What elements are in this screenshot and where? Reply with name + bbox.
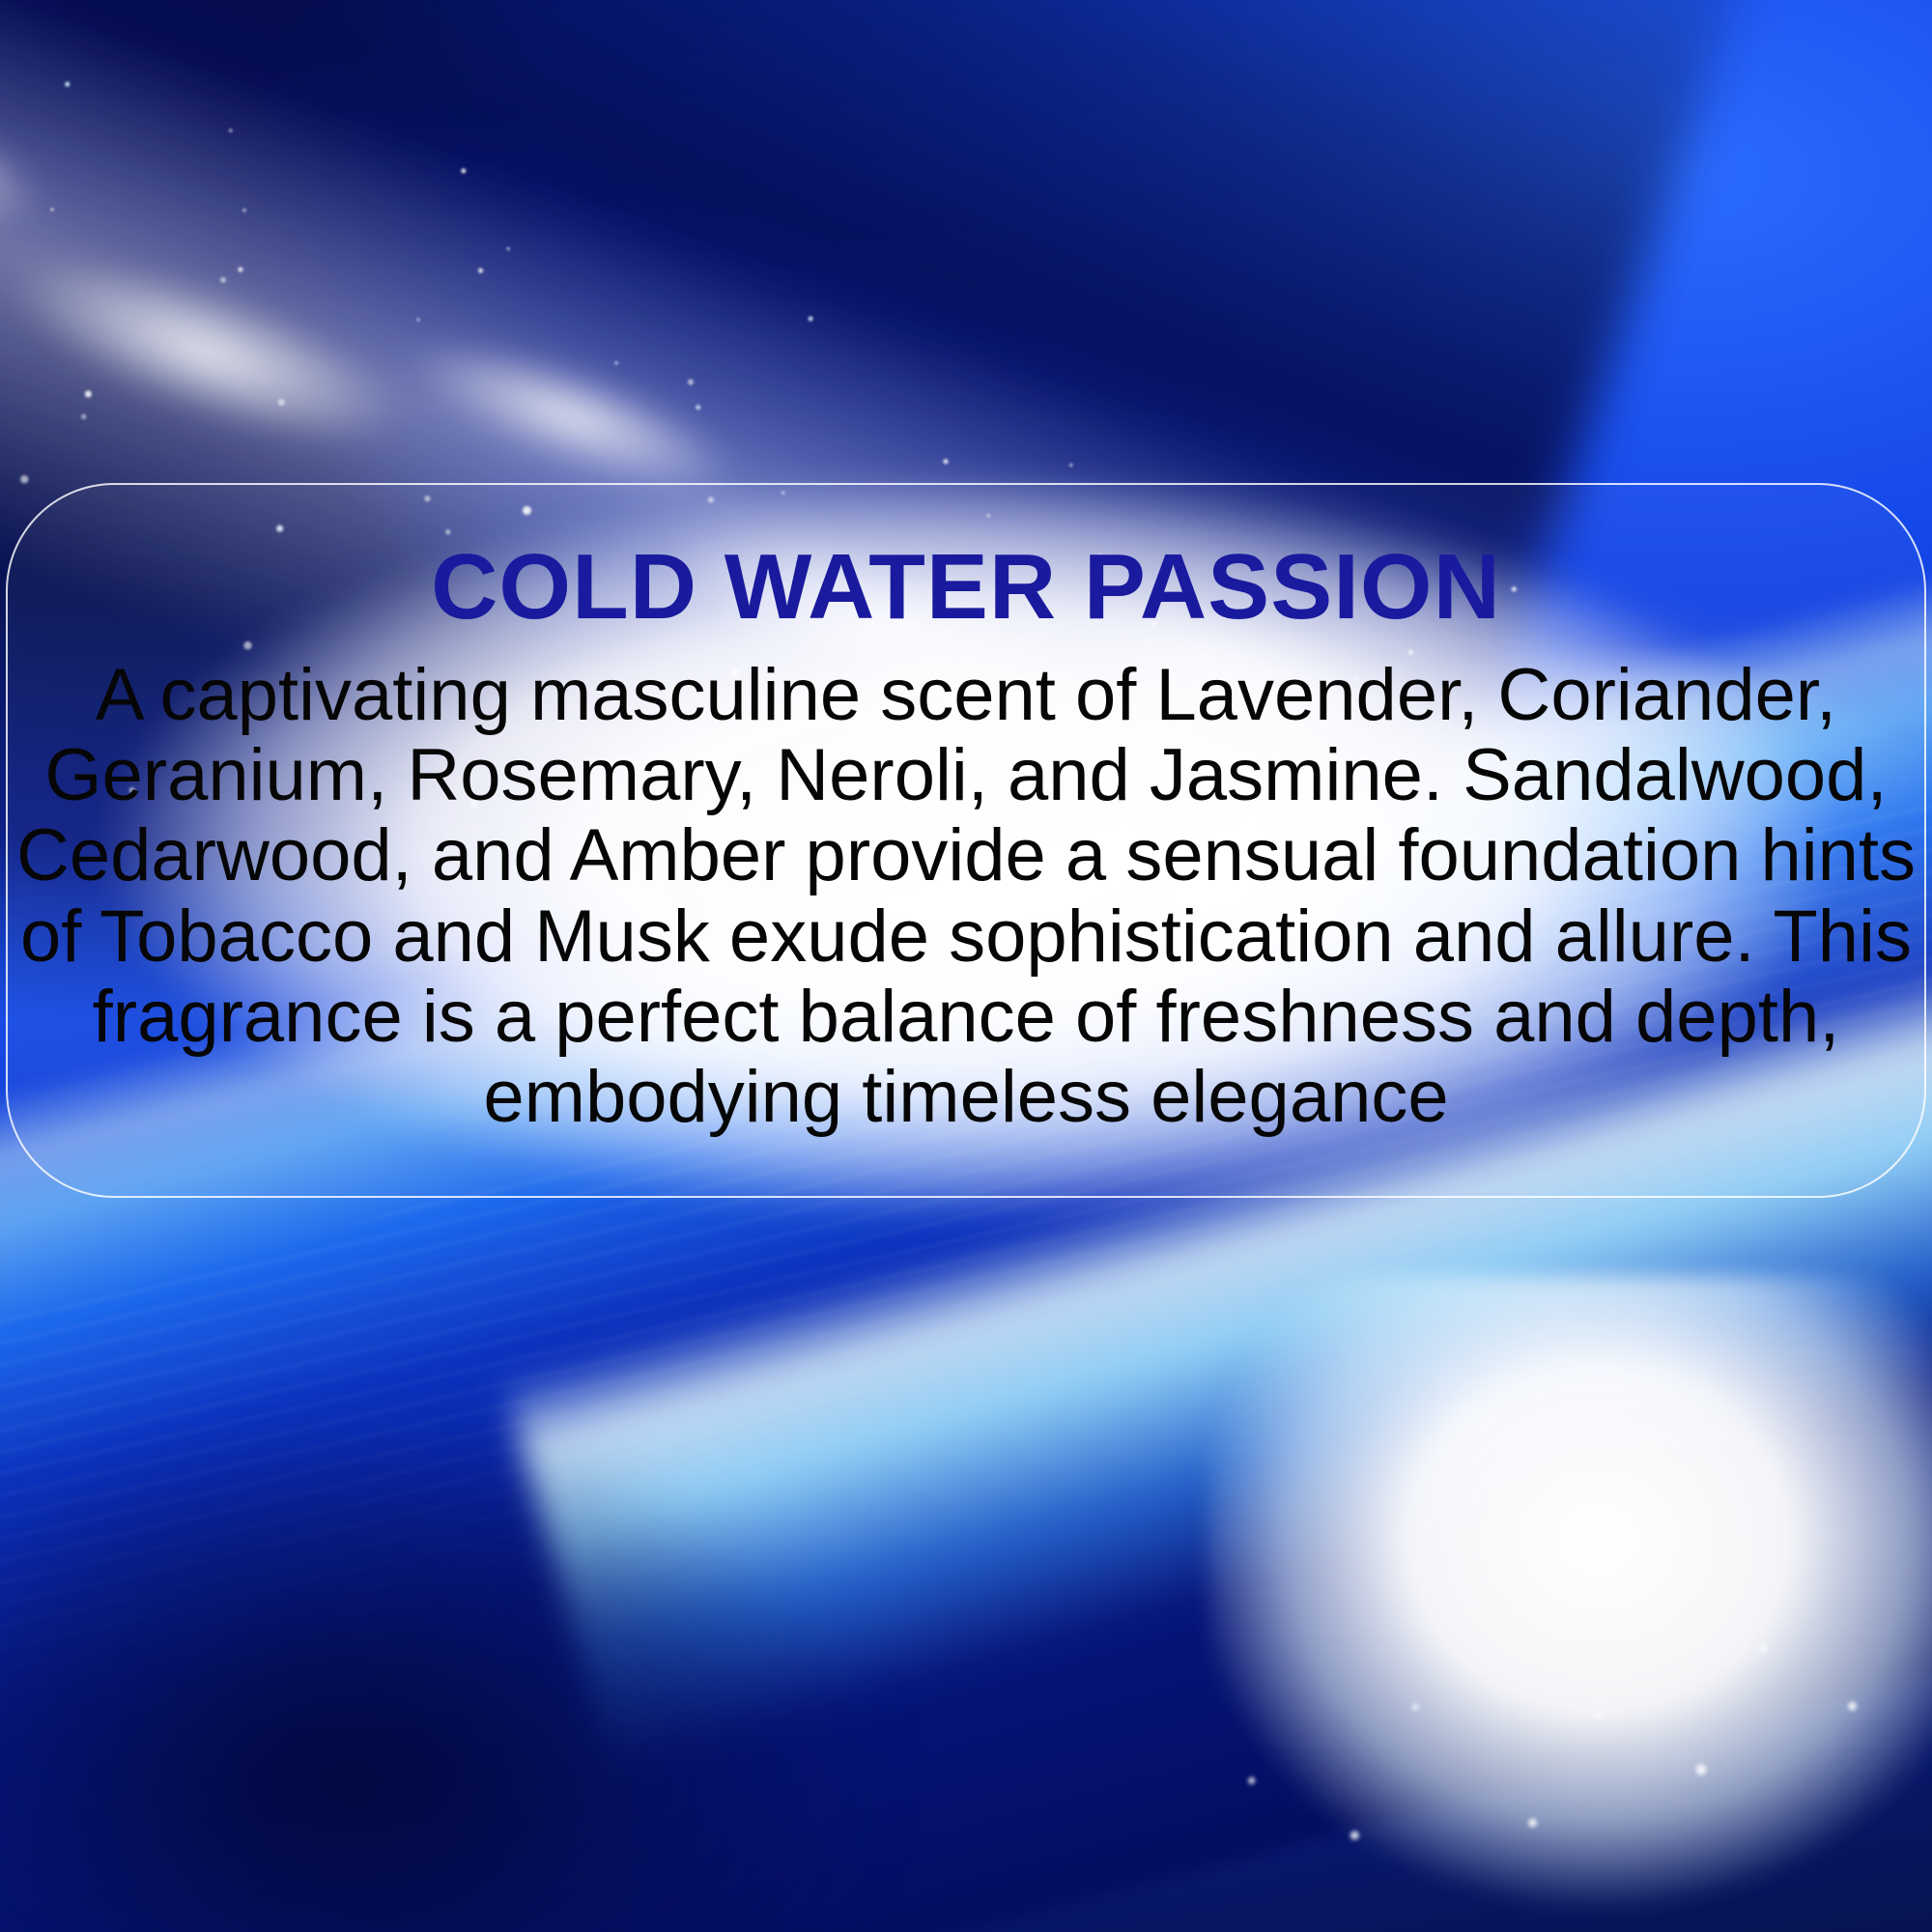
product-poster: COLD WATER PASSION A captivating masculi… <box>0 0 1932 1932</box>
page-title: COLD WATER PASSION <box>0 541 1932 634</box>
deep-water-shadow-icon <box>0 1256 1159 1932</box>
card-content: COLD WATER PASSION A captivating masculi… <box>0 541 1932 1137</box>
product-description: A captivating masculine scent of Lavende… <box>0 655 1932 1137</box>
